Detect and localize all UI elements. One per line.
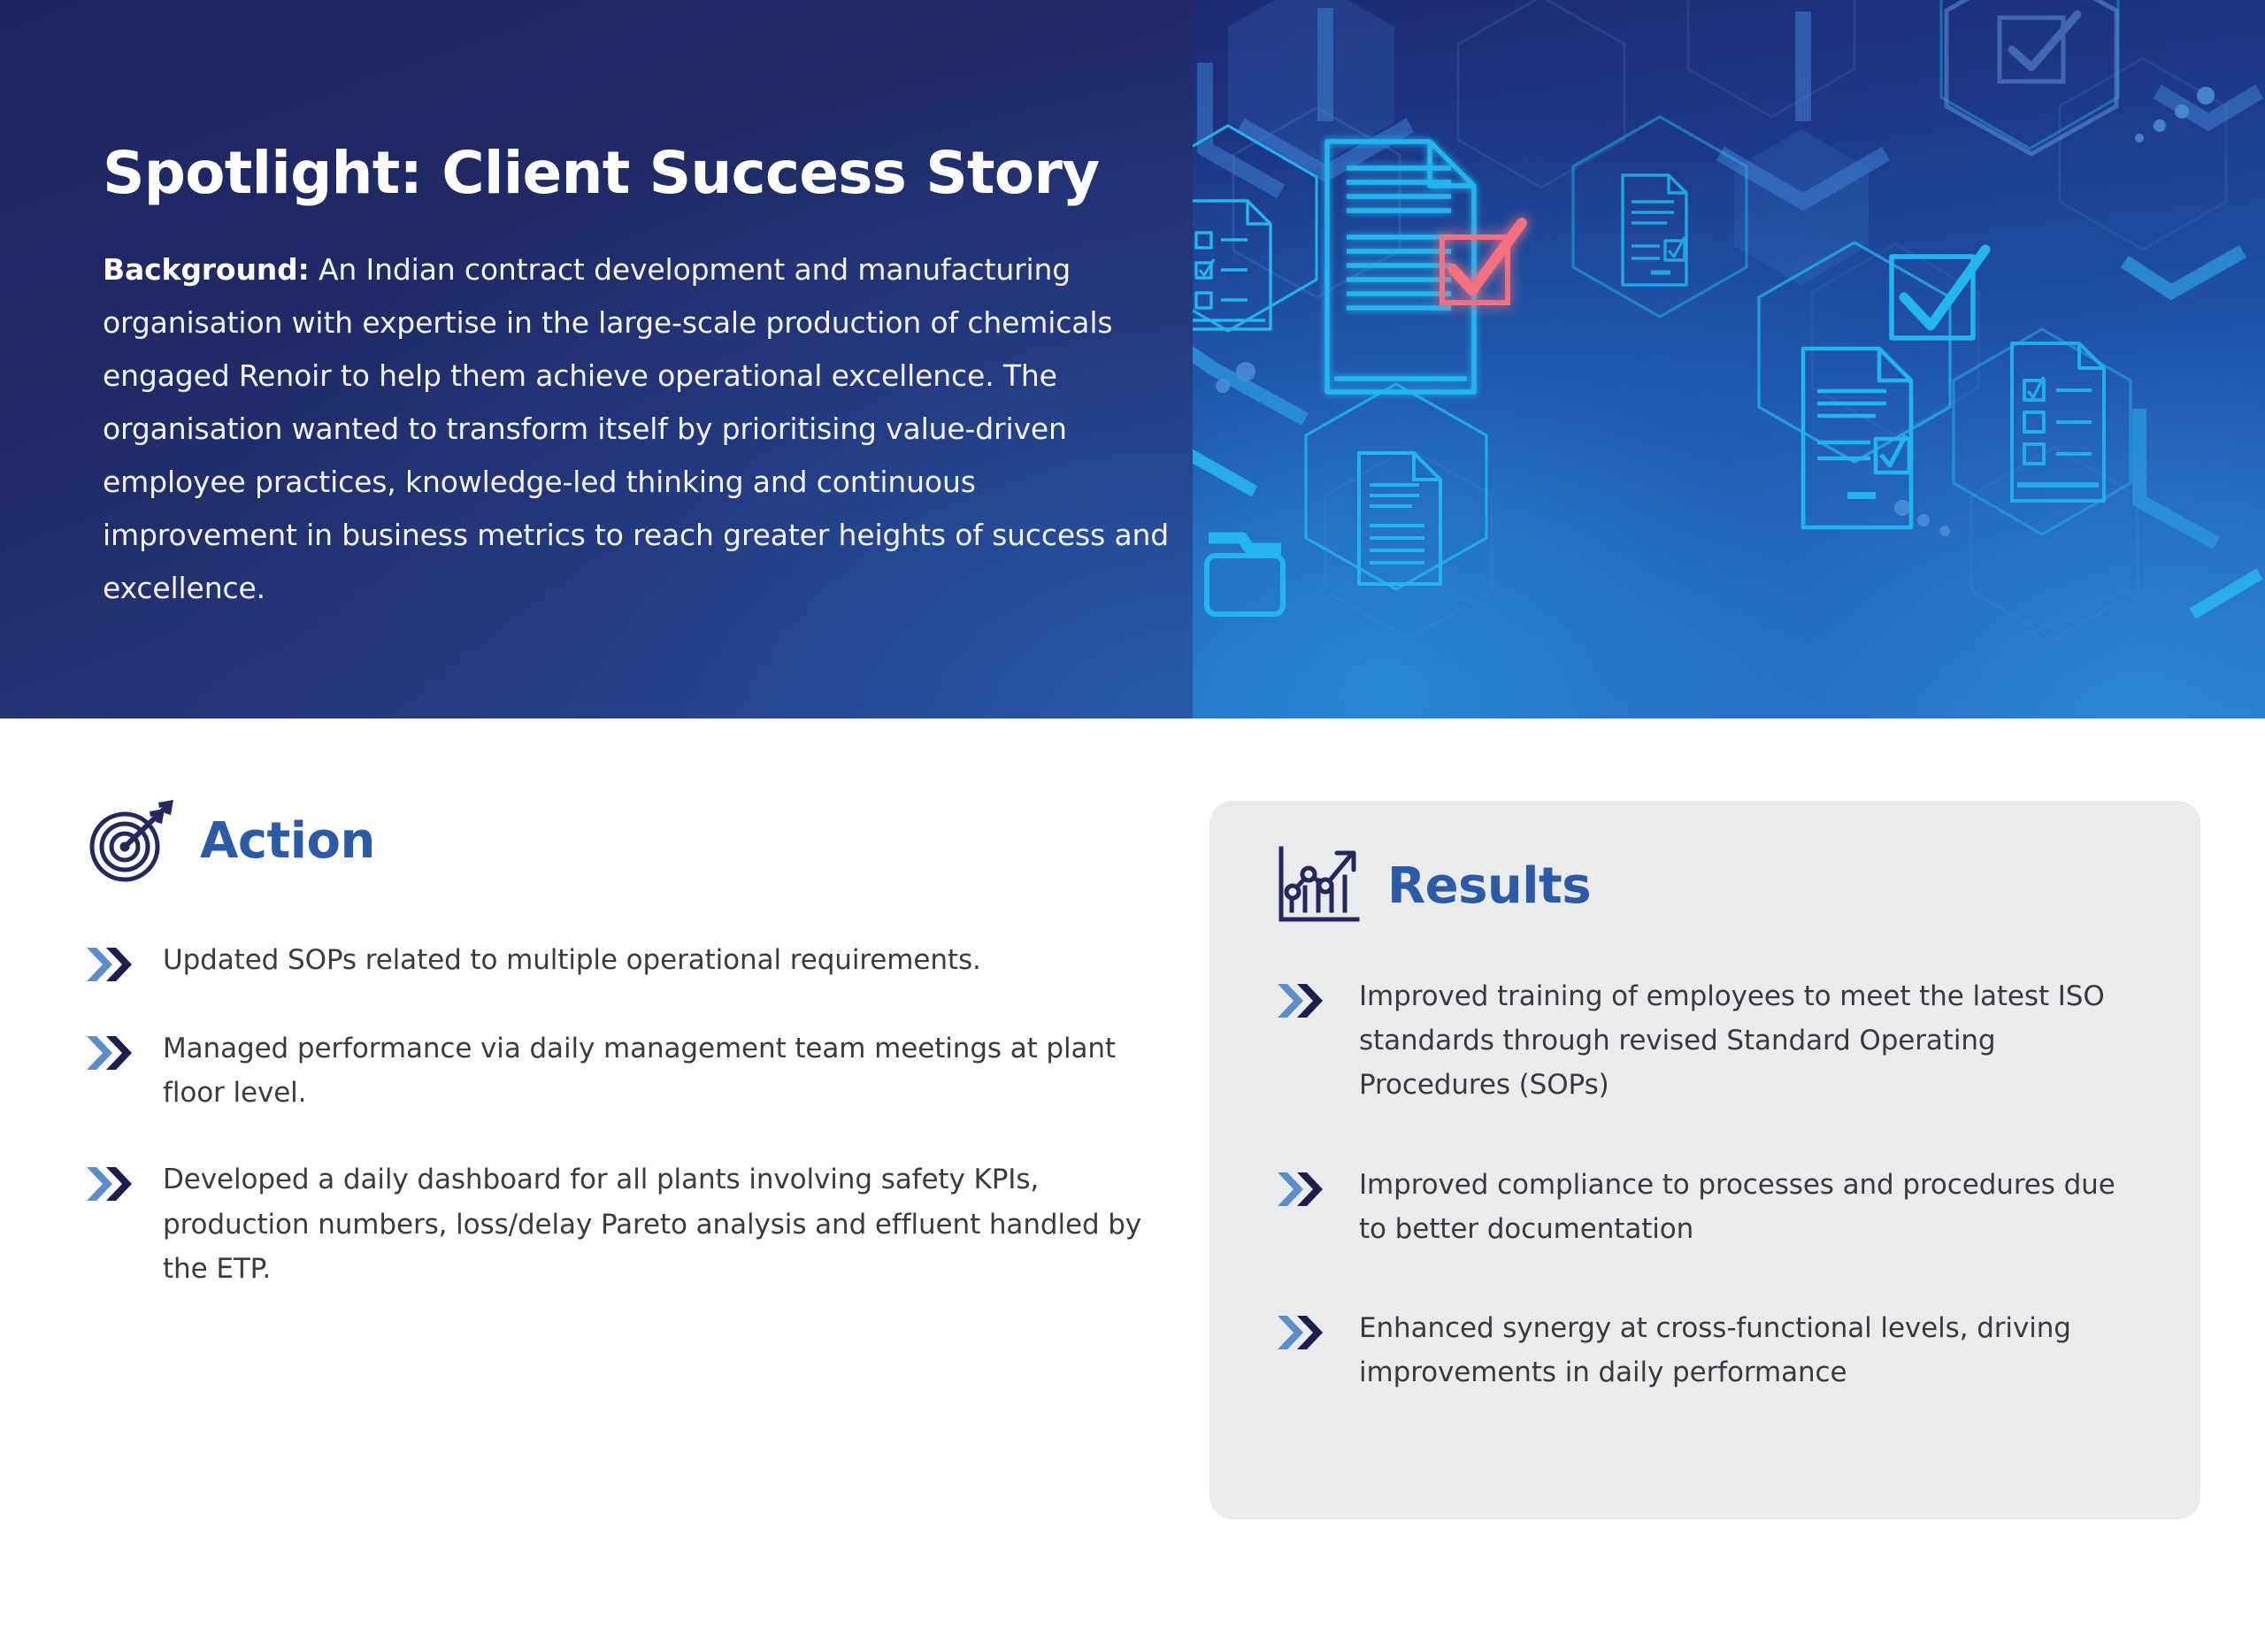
background-label: Background: — [103, 252, 310, 287]
action-column: Action Updated SOPs related to multiple … — [85, 798, 1182, 1291]
double-chevron-icon — [1276, 1170, 1325, 1209]
action-heading: Action — [85, 798, 1182, 883]
double-chevron-icon — [85, 945, 134, 984]
content-area: Action Updated SOPs related to multiple … — [0, 718, 2265, 1652]
list-item: Managed performance via daily management… — [85, 1026, 1182, 1115]
double-chevron-icon — [85, 1164, 134, 1203]
hero-illustration-panel — [1193, 0, 2265, 718]
client-success-story-page: Spotlight: Client Success Story Backgrou… — [0, 0, 2265, 1652]
list-item-text: Managed performance via daily management… — [134, 1026, 1182, 1115]
double-chevron-icon — [85, 1033, 134, 1072]
background-body: An Indian contract development and manuf… — [103, 252, 1169, 605]
list-item: Enhanced synergy at cross-functional lev… — [1276, 1306, 2147, 1395]
list-item-text: Updated SOPs related to multiple operati… — [134, 938, 981, 982]
list-item-text: Enhanced synergy at cross-functional lev… — [1325, 1306, 2147, 1395]
list-item-text: Developed a daily dashboard for all plan… — [134, 1157, 1182, 1291]
double-chevron-icon — [1276, 981, 1325, 1020]
list-item-text: Improved compliance to processes and pro… — [1325, 1163, 2147, 1251]
page-title: Spotlight: Client Success Story — [103, 142, 1173, 206]
results-heading: Results — [1276, 845, 2147, 926]
list-item-text: Improved training of employees to meet t… — [1325, 974, 2147, 1108]
list-item: Improved compliance to processes and pro… — [1276, 1163, 2147, 1251]
list-item: Developed a daily dashboard for all plan… — [85, 1157, 1182, 1291]
action-bullet-list: Updated SOPs related to multiple operati… — [85, 938, 1182, 1291]
list-item: Improved training of employees to meet t… — [1276, 974, 2147, 1108]
double-chevron-icon — [1276, 1313, 1325, 1352]
background-paragraph: Background: An Indian contract developme… — [103, 243, 1173, 615]
hero-banner: Spotlight: Client Success Story Backgrou… — [0, 0, 2265, 718]
hero-copy: Spotlight: Client Success Story Backgrou… — [103, 142, 1173, 615]
target-arrow-icon — [85, 798, 177, 883]
results-title: Results — [1387, 857, 1591, 915]
results-card: Results Improved training of employees t… — [1209, 801, 2200, 1519]
documents-compliance-hexagon-illustration — [1193, 0, 2265, 718]
bar-chart-growth-icon — [1276, 845, 1361, 926]
list-item: Updated SOPs related to multiple operati… — [85, 938, 1182, 984]
results-bullet-list: Improved training of employees to meet t… — [1276, 974, 2147, 1395]
action-title: Action — [200, 812, 375, 870]
